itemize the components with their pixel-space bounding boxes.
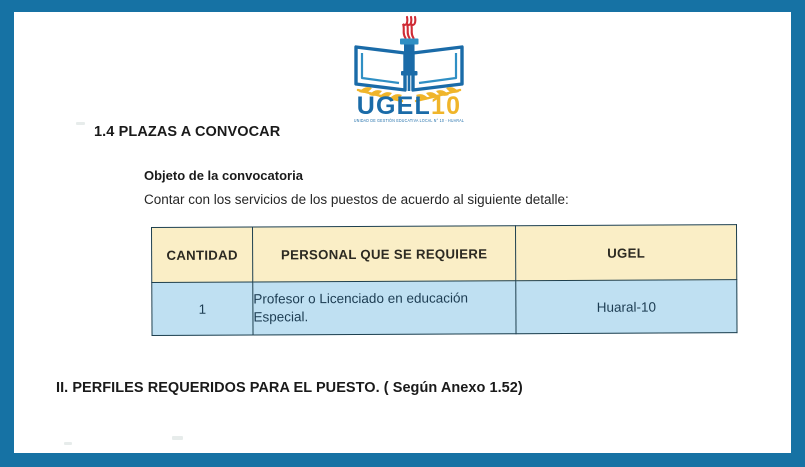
column-header-cantidad: CANTIDAD [152, 227, 253, 282]
scan-artifact [172, 436, 183, 440]
scan-artifact [64, 442, 72, 445]
column-header-ugel: UGEL [515, 225, 736, 281]
plazas-a-convocar-table: CANTIDAD PERSONAL QUE SE REQUIERE UGEL 1… [151, 224, 738, 336]
ugel-10-logo: UGEL10 UNIDAD DE GESTIÓN EDUCATIVA LOCAL… [339, 12, 479, 134]
cell-personal: Profesor o Licenciado en educación Espec… [253, 281, 516, 335]
section-heading-plazas-a-convocar: 1.4 PLAZAS A CONVOCAR [94, 124, 280, 140]
logo-subtitle: UNIDAD DE GESTIÓN EDUCATIVA LOCAL N° 10 … [339, 118, 479, 123]
document-viewer-frame: UGEL10 UNIDAD DE GESTIÓN EDUCATIVA LOCAL… [0, 0, 805, 467]
paragraph-contar-servicios: Contar con los servicios de los puestos … [144, 192, 569, 207]
subheading-objeto-convocatoria: Objeto de la convocatoria [144, 168, 303, 183]
table-header-row: CANTIDAD PERSONAL QUE SE REQUIERE UGEL [152, 225, 737, 283]
logo-wordmark: UGEL10 [339, 94, 479, 119]
scan-artifact [76, 122, 85, 125]
logo-mark [339, 12, 479, 104]
logo-wordmark-ugel: UGEL [357, 92, 431, 120]
cell-ugel: Huaral-10 [516, 280, 737, 334]
book-torch-laurel-icon [339, 12, 479, 104]
column-header-personal: PERSONAL QUE SE REQUIERE [253, 226, 516, 282]
plazas-table-container: CANTIDAD PERSONAL QUE SE REQUIERE UGEL 1… [151, 224, 737, 336]
cell-cantidad: 1 [152, 282, 253, 335]
scanned-page-sheet: UGEL10 UNIDAD DE GESTIÓN EDUCATIVA LOCAL… [14, 12, 791, 453]
section-heading-perfiles-requeridos: II. PERFILES REQUERIDOS PARA EL PUESTO. … [56, 380, 523, 396]
table-row: 1 Profesor o Licenciado en educación Esp… [152, 280, 737, 336]
logo-wordmark-10: 10 [431, 92, 461, 120]
